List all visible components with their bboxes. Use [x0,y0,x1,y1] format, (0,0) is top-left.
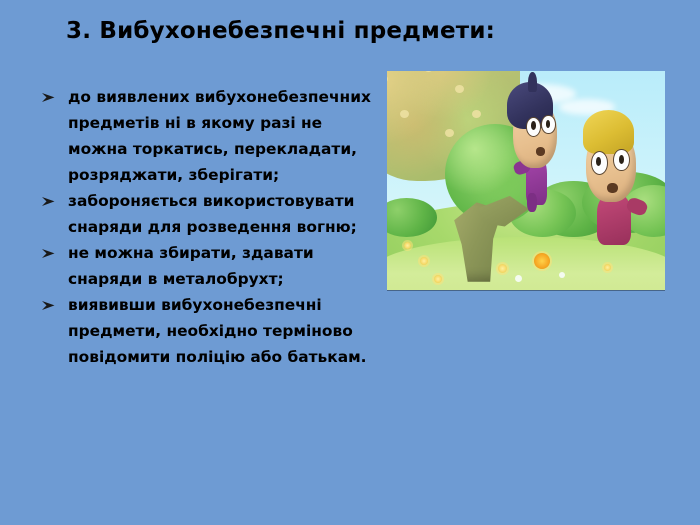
page-title: 3. Вибухонебезпечні предмети: [66,16,666,46]
flower-small [604,264,611,271]
list-item-text: виявивши вибухонебезпечні предмети, необ… [68,296,367,366]
boy-hair [583,110,634,153]
list-item: до виявлених вибухонебезпечних предметів… [36,84,381,188]
blond-haired-boy [579,110,654,237]
boy-shirt [597,194,632,245]
arrow-bullet-icon [41,84,61,110]
flower-small [434,275,442,283]
list-item: забороняється використовувати снаряди дл… [36,188,381,240]
boy-leg [527,193,537,213]
boy-pupil [619,155,624,164]
flower-small [515,275,522,282]
flower-small [404,242,411,249]
flower-small [498,264,507,273]
boy-mouth [607,183,618,193]
boy-hair-tuft [528,72,537,92]
arrow-bullet-icon [41,188,61,214]
list-item: виявивши вибухонебезпечні предмети, необ… [36,292,381,370]
dark-haired-boy [501,80,573,203]
cartoon-illustration-image [387,71,665,290]
slide-canvas: 3. Вибухонебезпечні предмети: до виявлен… [0,0,700,525]
list-item-text: не можна збирати, здавати снаряди в мета… [68,244,314,288]
grass-meadow-near [387,237,665,290]
boy-mouth [536,147,545,156]
boy-pupil [546,120,550,127]
arrow-bullet-icon [41,240,61,266]
boy-pupil [531,121,536,130]
list-item-text: до виявлених вибухонебезпечних предметів… [68,88,371,184]
list-item: не можна збирати, здавати снаряди в мета… [36,240,381,292]
arrow-bullet-icon [41,292,61,318]
list-item-text: забороняється використовувати снаряди дл… [68,192,357,236]
sunflower [534,253,550,269]
bullet-list: до виявлених вибухонебезпечних предметів… [36,84,381,370]
